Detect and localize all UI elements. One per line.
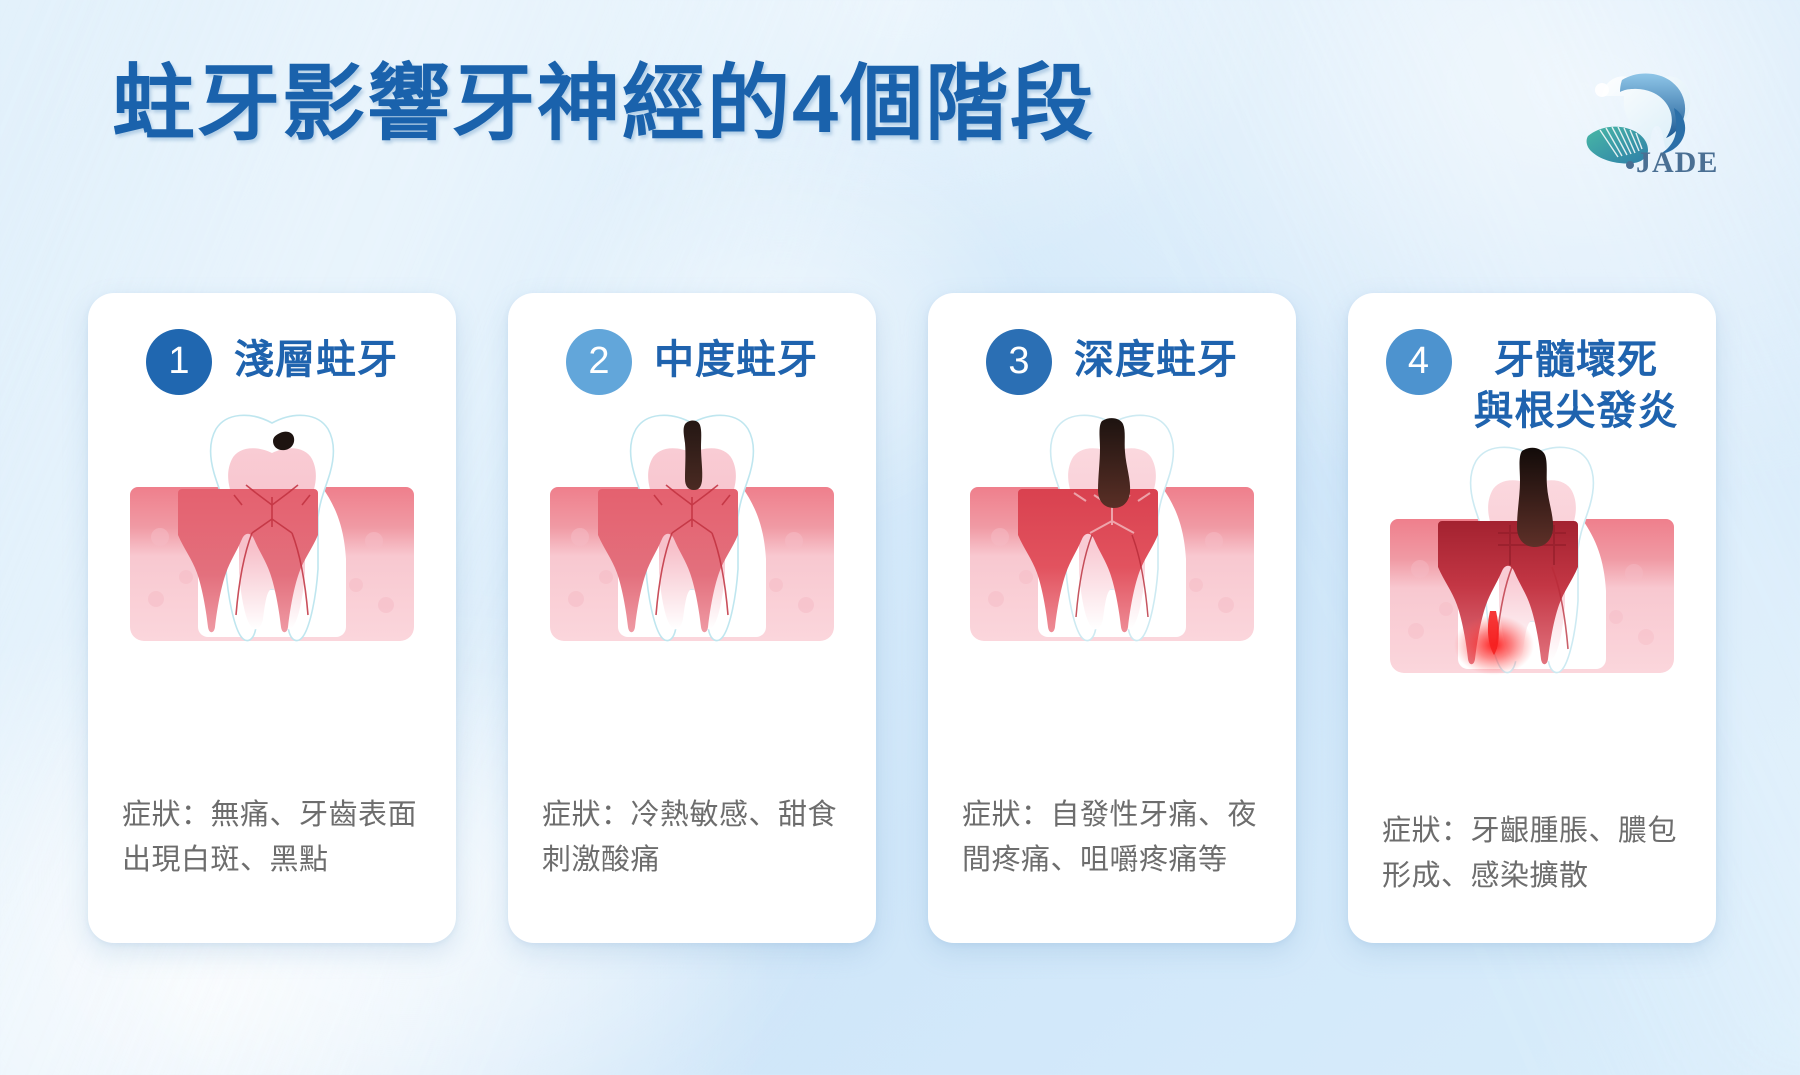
card-header: 2 中度蛀牙	[548, 329, 836, 395]
stage-title: 淺層蛀牙	[234, 329, 398, 386]
stage-card-2[interactable]: 2 中度蛀牙	[508, 293, 876, 943]
stage-title-line1: 中度蛀牙	[654, 335, 818, 386]
stage-title-line1: 淺層蛀牙	[234, 335, 398, 386]
stage-card-list: 1 淺層蛀牙	[88, 293, 1716, 943]
card-header: 1 淺層蛀牙	[128, 329, 416, 395]
stage-number-badge: 1	[146, 329, 212, 395]
symptom-text: 症狀：自發性牙痛、夜間疼痛、咀嚼疼痛等	[928, 793, 1296, 883]
stage-number-badge: 3	[986, 329, 1052, 395]
brand-logo: JADE	[1578, 62, 1758, 180]
symptom-text: 症狀：無痛、牙齒表面出現白斑、黑點	[88, 793, 456, 883]
tooth-illustration-stage-3	[970, 409, 1254, 645]
stage-title: 中度蛀牙	[654, 329, 818, 386]
stage-number-badge: 2	[566, 329, 632, 395]
stage-card-3[interactable]: 3 深度蛀牙	[928, 293, 1296, 943]
stage-title: 深度蛀牙	[1074, 329, 1238, 386]
symptom-text: 症狀：冷熱敏感、甜食刺激酸痛	[508, 793, 876, 883]
tooth-illustration-stage-1	[130, 409, 414, 645]
stage-title-line2: 與根尖發炎	[1474, 386, 1679, 437]
card-header: 3 深度蛀牙	[968, 329, 1256, 395]
tooth-illustration-stage-4	[1390, 441, 1674, 677]
stage-title-line1: 牙髓壞死	[1474, 335, 1679, 386]
symptom-text: 症狀：牙齦腫脹、膿包形成、感染擴散	[1348, 809, 1716, 899]
stage-card-1[interactable]: 1 淺層蛀牙	[88, 293, 456, 943]
card-header: 4 牙髓壞死 與根尖發炎	[1368, 329, 1697, 437]
tooth-illustration-stage-2	[550, 409, 834, 645]
stage-card-4[interactable]: 4 牙髓壞死 與根尖發炎	[1348, 293, 1716, 943]
page-title: 蛀牙影響牙神經的4個階段	[112, 56, 1095, 151]
svg-text:JADE: JADE	[1636, 146, 1718, 179]
stage-number-badge: 4	[1386, 329, 1452, 395]
stage-title: 牙髓壞死 與根尖發炎	[1474, 329, 1679, 437]
stage-title-line1: 深度蛀牙	[1074, 335, 1238, 386]
